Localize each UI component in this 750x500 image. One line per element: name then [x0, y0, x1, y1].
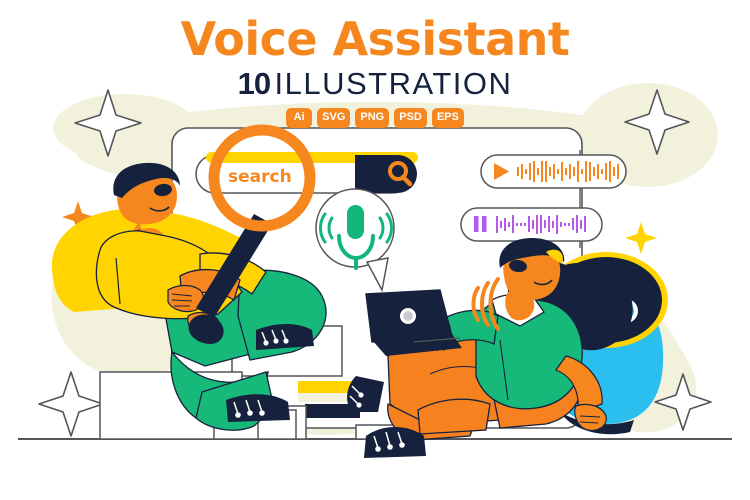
badge-png[interactable]: PNG: [355, 108, 389, 128]
badge-psd[interactable]: PSD: [394, 108, 427, 128]
illustration-canvas: search: [0, 0, 750, 500]
page-subtitle: 10 ILLUSTRATION: [0, 68, 750, 99]
badge-svg[interactable]: SVG: [317, 108, 350, 128]
header: Voice Assistant 10 ILLUSTRATION Ai SVG P…: [0, 0, 750, 128]
subtitle-word: ILLUSTRATION: [275, 66, 513, 101]
page-title: Voice Assistant: [0, 16, 750, 62]
format-badges: Ai SVG PNG PSD EPS: [0, 108, 750, 128]
badge-ai[interactable]: Ai: [286, 108, 312, 128]
star-bottom-left: [39, 372, 103, 436]
search-query-text: search: [228, 167, 292, 187]
badge-eps[interactable]: EPS: [432, 108, 464, 128]
subtitle-number: 10: [238, 66, 270, 101]
star-small-yellow-right: [625, 222, 657, 254]
